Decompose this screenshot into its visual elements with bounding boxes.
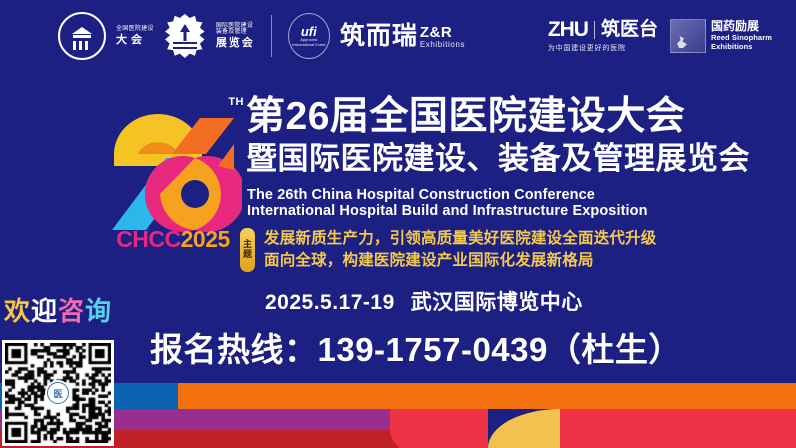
hotline-text: 报名热线：139-1757-0439（杜生） (150, 323, 682, 371)
welcome-char2: 迎 (31, 296, 58, 326)
zr-en: Z&R Exhibitions (420, 25, 465, 49)
chcc-wordmark-b: 2025 (181, 226, 230, 252)
theme-block: 主 题 发展新质生产力，引领高质量美好医院建设全面迭代升级 面向全球，构建医院建… (240, 228, 657, 272)
top-logo-bar: 全国医院建设 大会 国际医院建设 装备及管理 展览会 ufi Approved … (0, 0, 796, 72)
title-cn-line1: 第26届全国医院建设大会 (246, 97, 685, 136)
organizer-logo-group: 全国医院建设 大会 国际医院建设 装备及管理 展览会 ufi Approved … (58, 12, 465, 60)
zhu-divider (594, 21, 595, 39)
expo-flake-line2: 装备及管理 (216, 29, 255, 35)
zhu-slogan: 为中国建设更好的医院 (548, 43, 626, 53)
chcc-seal-line1: 全国医院建设 (116, 26, 154, 32)
reed-sinopharm-logo: 国药励展 Reed Sinopharm Exhibitions (670, 19, 772, 53)
chcc-26-logo-icon: TH (100, 92, 242, 232)
welcome-char3: 咨 (58, 296, 85, 326)
zhuyitai-logo: ZHU 筑医台 为中国建设更好的医院 (548, 19, 658, 53)
welcome-text: 欢迎咨询 (4, 298, 112, 324)
title-cn-line2: 暨国际医院建设、装备及管理展览会 (246, 143, 750, 174)
theme-line1: 发展新质生产力，引领高质量美好医院建设全面迭代升级 (264, 229, 657, 248)
zhu-mark: ZHU (548, 19, 588, 40)
expo-flake-line3: 展览会 (216, 38, 255, 50)
reed-cn: 国药励展 (711, 20, 772, 34)
expo-flake-label: 国际医院建设 装备及管理 展览会 (216, 23, 255, 49)
theme-badge-char2: 题 (243, 250, 252, 260)
event-date: 2025.5.17-19 (265, 291, 395, 314)
theme-line2: 面向全球，构建医院建设产业国际化发展新格局 (264, 251, 657, 270)
zr-en-bottom: Exhibitions (420, 41, 465, 49)
building-seal-icon (58, 12, 106, 60)
bottom-color-decor (0, 370, 796, 448)
reed-en2: Exhibitions (711, 43, 772, 52)
welcome-char4: 询 (85, 296, 112, 326)
ufi-caption: Approved International Event (289, 38, 329, 48)
logo-superscript: TH (228, 96, 244, 108)
chcc-seal-label: 全国医院建设 大会 (116, 26, 154, 47)
title-en-line2: International Hospital Build and Infrast… (247, 202, 648, 221)
qr-center-mark: 医 (47, 382, 69, 404)
zr-en-top: Z&R (420, 25, 465, 40)
zhu-cn: 筑医台 (601, 20, 658, 39)
theme-badge: 主 题 (240, 228, 255, 272)
logo-divider (271, 15, 272, 57)
zr-cn: 筑而瑞 (340, 24, 418, 49)
chcc-wordmark: CHCC2025 (98, 226, 248, 253)
ufi-mark: ufi (301, 25, 317, 38)
chcc-seal-line2: 大会 (116, 35, 154, 47)
qr-code[interactable]: 医 (2, 340, 114, 446)
poster-root: 全国医院建设 大会 国际医院建设 装备及管理 展览会 ufi Approved … (0, 0, 796, 448)
sponsor-logo-group: ZHU 筑医台 为中国建设更好的医院 国药励展 Reed Sinopharm E… (548, 19, 772, 53)
snowflake-cross-icon (164, 14, 206, 58)
ufi-badge-icon: ufi Approved International Event (288, 13, 330, 59)
qr-center-logo: 医 (45, 380, 71, 406)
reed-sinopharm-icon (670, 19, 706, 53)
chcc-wordmark-a: CHCC (116, 226, 180, 252)
welcome-char1: 欢 (4, 296, 31, 326)
zr-exhibitions-logo: 筑而瑞 Z&R Exhibitions (340, 24, 465, 49)
event-venue: 武汉国际博览中心 (411, 291, 583, 314)
event-date-venue: 2025.5.17-19武汉国际博览中心 (265, 286, 583, 316)
